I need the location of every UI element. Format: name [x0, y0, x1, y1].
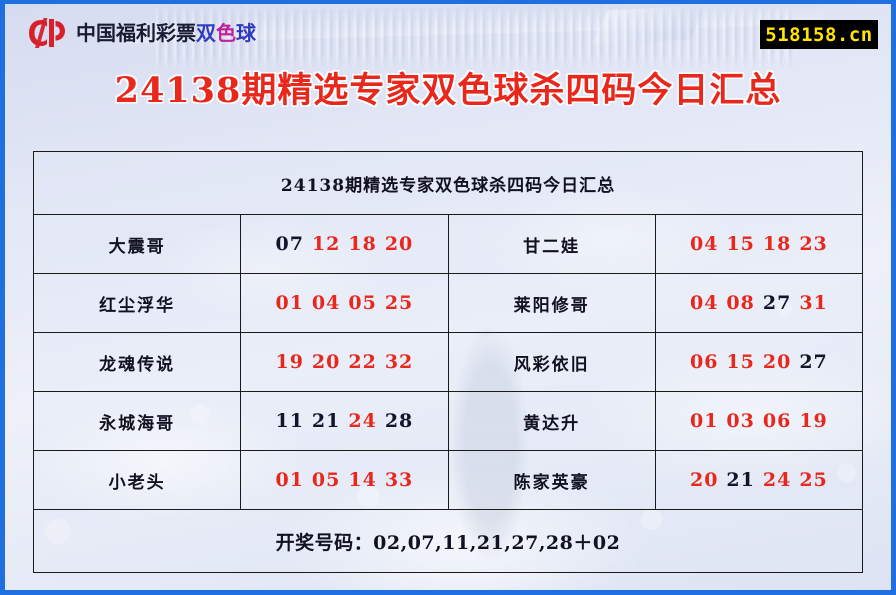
table-row: 永城海哥 11212428 黄达升 01030619 — [34, 392, 863, 451]
number-killed: 05 — [348, 292, 376, 314]
kill-numbers: 01030619 — [655, 392, 862, 451]
expert-name: 龙魂传说 — [34, 333, 241, 392]
expert-name: 陈家英豪 — [448, 451, 655, 510]
number-killed: 04 — [690, 233, 718, 255]
number-killed: 03 — [726, 410, 754, 432]
expert-name: 风彩依旧 — [448, 333, 655, 392]
number-killed: 01 — [275, 292, 303, 314]
draw-result: 开奖号码：02,07,11,21,27,28＋02 — [34, 510, 863, 573]
number-killed: 04 — [690, 292, 718, 314]
number-hit: 27 — [799, 351, 827, 373]
number-killed: 14 — [348, 469, 376, 491]
kill-numbers: 06152027 — [655, 333, 862, 392]
number-killed: 20 — [690, 469, 718, 491]
number-killed: 20 — [763, 351, 791, 373]
number-killed: 20 — [385, 233, 413, 255]
number-killed: 18 — [348, 233, 376, 255]
number-killed: 01 — [275, 469, 303, 491]
masthead: 中国福利彩票双色球 518158.cn — [5, 4, 891, 60]
number-hit: 21 — [312, 410, 340, 432]
brand-product-char-1: 双 — [196, 21, 216, 45]
kill-numbers: 01040525 — [241, 274, 448, 333]
number-hit: 21 — [726, 469, 754, 491]
number-killed: 24 — [763, 469, 791, 491]
site-watermark-badge: 518158.cn — [760, 20, 878, 49]
number-killed: 31 — [799, 292, 827, 314]
number-killed: 12 — [312, 233, 340, 255]
number-killed: 19 — [799, 410, 827, 432]
brand-lockup: 中国福利彩票双色球 — [27, 16, 256, 50]
brand-product-char-2: 色 — [216, 21, 236, 45]
number-killed: 25 — [385, 292, 413, 314]
table-row: 大震哥 07121820 甘二娃 04151823 — [34, 215, 863, 274]
number-hit: 11 — [275, 410, 303, 432]
expert-forecast-table: 24138期精选专家双色球杀四码今日汇总 大震哥 07121820 甘二娃 04… — [33, 151, 863, 573]
table-row: 小老头 01051433 陈家英豪 20212425 — [34, 451, 863, 510]
number-killed: 32 — [385, 351, 413, 373]
number-killed: 06 — [690, 351, 718, 373]
table-caption: 24138期精选专家双色球杀四码今日汇总 — [34, 152, 863, 215]
kill-numbers: 04082731 — [655, 274, 862, 333]
kill-numbers: 01051433 — [241, 451, 448, 510]
number-killed: 22 — [348, 351, 376, 373]
number-killed: 23 — [799, 233, 827, 255]
number-hit: 28 — [385, 410, 413, 432]
number-killed: 24 — [348, 410, 376, 432]
page-title: 24138期精选专家双色球杀四码今日汇总 — [5, 62, 891, 113]
kill-numbers: 19202232 — [241, 333, 448, 392]
number-killed: 04 — [312, 292, 340, 314]
number-killed: 15 — [726, 351, 754, 373]
expert-name: 红尘浮华 — [34, 274, 241, 333]
kill-numbers: 11212428 — [241, 392, 448, 451]
brand-product-char-3: 球 — [236, 21, 256, 45]
number-hit: 07 — [275, 233, 303, 255]
number-killed: 19 — [275, 351, 303, 373]
expert-name: 永城海哥 — [34, 392, 241, 451]
page-root: 中国福利彩票双色球 518158.cn 24138期精选专家双色球杀四码今日汇总… — [0, 0, 896, 595]
brand-name-cn: 中国福利彩票 — [76, 21, 196, 45]
number-killed: 15 — [726, 233, 754, 255]
number-killed: 25 — [799, 469, 827, 491]
expert-name: 黄达升 — [448, 392, 655, 451]
number-hit: 27 — [763, 292, 791, 314]
table-caption-row: 24138期精选专家双色球杀四码今日汇总 — [34, 152, 863, 215]
draw-result-row: 开奖号码：02,07,11,21,27,28＋02 — [34, 510, 863, 573]
number-killed: 05 — [312, 469, 340, 491]
number-killed: 18 — [763, 233, 791, 255]
brand-wordmark: 中国福利彩票双色球 — [76, 23, 256, 43]
kill-numbers: 07121820 — [241, 215, 448, 274]
number-killed: 20 — [312, 351, 340, 373]
number-killed: 01 — [690, 410, 718, 432]
china-welfare-lottery-logo-icon — [27, 17, 67, 49]
number-killed: 06 — [763, 410, 791, 432]
expert-name: 甘二娃 — [448, 215, 655, 274]
number-killed: 33 — [385, 469, 413, 491]
number-killed: 08 — [726, 292, 754, 314]
expert-name: 大震哥 — [34, 215, 241, 274]
expert-name: 小老头 — [34, 451, 241, 510]
table-row: 龙魂传说 19202232 风彩依旧 06152027 — [34, 333, 863, 392]
table-row: 红尘浮华 01040525 莱阳修哥 04082731 — [34, 274, 863, 333]
expert-name: 莱阳修哥 — [448, 274, 655, 333]
kill-numbers: 20212425 — [655, 451, 862, 510]
kill-numbers: 04151823 — [655, 215, 862, 274]
